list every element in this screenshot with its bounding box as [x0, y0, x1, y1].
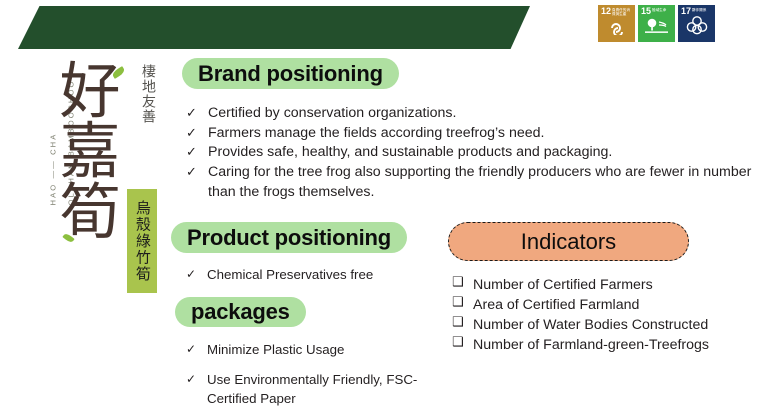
logo-green-box-text: 烏殼綠竹筍 [133, 200, 151, 283]
list-item-label: Number of Farmland-green-Treefrogs [473, 335, 762, 355]
square-bullet-icon: ❑ [452, 315, 473, 332]
brand-logo-block: HAO —— CHA OLDHAM BAMBOOSHOOT 好 嘉 筍 棲地友善… [26, 62, 176, 302]
brand-positioning-list: ✓ Certified by conservation organization… [186, 104, 762, 203]
title-banner [18, 6, 530, 49]
list-item-label: Caring for the tree frog also supporting… [208, 163, 762, 202]
square-bullet-icon: ❑ [452, 335, 473, 352]
list-item: ✓ Farmers manage the fields according tr… [186, 124, 762, 144]
list-item: ✓ Use Environmentally Friendly, FSC-Cert… [186, 371, 446, 408]
product-positioning-heading: Product positioning [171, 222, 407, 253]
logo-characters: 好 嘉 筍 [52, 62, 128, 243]
list-item: ❑ Number of Farmland-green-Treefrogs [452, 335, 762, 355]
partnership-circles-icon [678, 15, 715, 40]
list-item-label: Use Environmentally Friendly, FSC-Certif… [207, 371, 446, 408]
sdg-15-label: 陸域生命 [652, 8, 673, 12]
sdg-15-number: 15 [641, 7, 651, 16]
list-item-label: Area of Certified Farmland [473, 295, 762, 315]
sdg-12-number: 12 [601, 7, 611, 16]
check-icon: ✓ [186, 266, 207, 283]
list-item-label: Minimize Plastic Usage [207, 341, 446, 359]
product-positioning-list: ✓ Chemical Preservatives free [186, 266, 456, 285]
packages-list: ✓ Minimize Plastic Usage ✓ Use Environme… [186, 341, 446, 408]
brand-positioning-heading: Brand positioning [182, 58, 399, 89]
logo-char-1: 好 [59, 62, 120, 122]
sdg-12-icon: 12 負責任的消費與生產 [598, 5, 635, 42]
packages-heading: packages [175, 297, 306, 327]
list-item-label: Number of Water Bodies Constructed [473, 315, 762, 335]
check-icon: ✓ [186, 143, 208, 161]
sdg-17-icon: 17 夥伴關係 [678, 5, 715, 42]
list-item-label: Certified by conservation organizations. [208, 104, 762, 124]
list-item: ✓ Provides safe, healthy, and sustainabl… [186, 143, 762, 163]
square-bullet-icon: ❑ [452, 295, 473, 312]
sdg-15-icon: 15 陸域生命 [638, 5, 675, 42]
list-item: ❑ Number of Certified Farmers [452, 275, 762, 295]
list-item-label: Number of Certified Farmers [473, 275, 762, 295]
list-item-label: Chemical Preservatives free [207, 266, 456, 285]
check-icon: ✓ [186, 163, 208, 181]
check-icon: ✓ [186, 341, 207, 358]
tree-icon [638, 18, 675, 40]
list-item: ❑ Area of Certified Farmland [452, 295, 762, 315]
sdg-icon-strip: 12 負責任的消費與生產 15 陸域生命 17 夥伴關係 [598, 5, 715, 42]
list-item: ✓ Certified by conservation organization… [186, 104, 762, 124]
sdg-17-label: 夥伴關係 [692, 8, 713, 12]
sdg-12-label: 負責任的消費與生產 [612, 8, 633, 17]
logo-side-text: 棲地友善 [130, 64, 156, 124]
logo-char-3: 筍 [59, 183, 120, 243]
check-icon: ✓ [186, 371, 207, 388]
list-item: ✓ Caring for the tree frog also supporti… [186, 163, 762, 202]
logo-green-box: 烏殼綠竹筍 [127, 189, 157, 293]
indicators-list: ❑ Number of Certified Farmers ❑ Area of … [452, 275, 762, 356]
list-item: ✓ Chemical Preservatives free [186, 266, 456, 285]
indicators-heading: Indicators [448, 222, 689, 261]
square-bullet-icon: ❑ [452, 275, 473, 292]
list-item: ❑ Number of Water Bodies Constructed [452, 315, 762, 335]
logo-char-2: 嘉 [59, 122, 120, 182]
list-item: ✓ Minimize Plastic Usage [186, 341, 446, 359]
list-item-label: Farmers manage the fields according tree… [208, 124, 762, 144]
infinity-icon [598, 21, 635, 40]
check-icon: ✓ [186, 124, 208, 142]
list-item-label: Provides safe, healthy, and sustainable … [208, 143, 762, 163]
check-icon: ✓ [186, 104, 208, 122]
